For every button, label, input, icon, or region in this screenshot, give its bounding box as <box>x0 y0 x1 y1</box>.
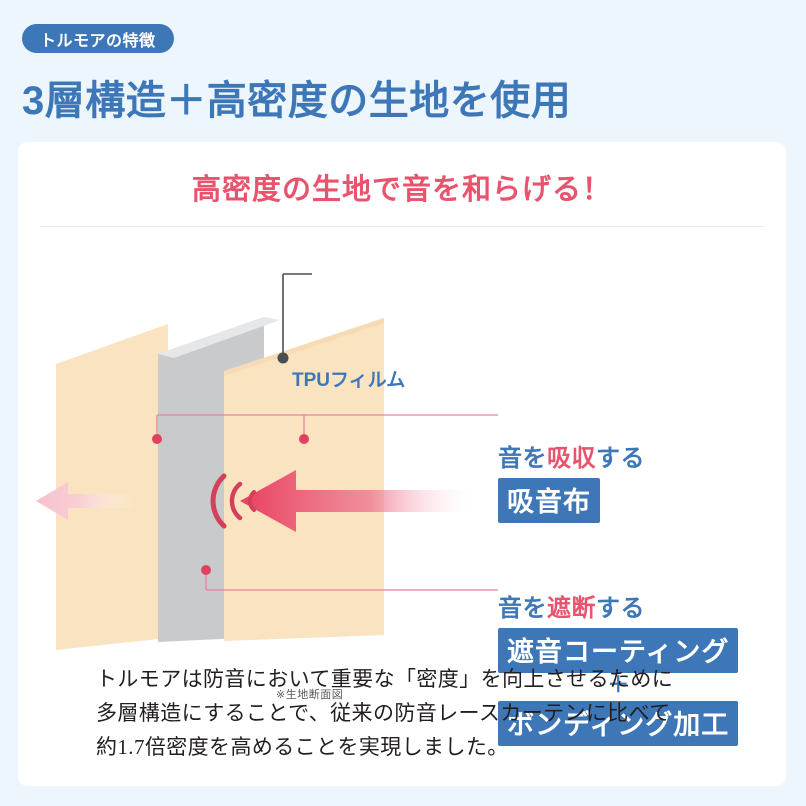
body-copy-line-2: 多層構造にすることで、従来の防音レースカーテンに比べて <box>96 696 708 730</box>
body-copy-line-3: 約1.7倍密度を高めることを実現しました。 <box>96 730 708 764</box>
body-copy: トルモアは防音において重要な「密度」を向上させるために 多層構造にすることで、従… <box>18 662 786 764</box>
callout-absorb-heading-highlight: 吸収 <box>547 445 596 472</box>
tpu-leader-dot <box>278 353 289 364</box>
block-leader-dot <box>201 565 211 575</box>
absorb-leader-dot-right <box>299 434 309 444</box>
callout-absorb-heading-prefix: 音を <box>498 445 547 472</box>
feature-card: 高密度の生地で音を和らげる！ <box>18 142 786 786</box>
chip-absorbing-fabric: 吸音布 <box>498 478 600 523</box>
callout-block-heading: 音を遮断する <box>498 588 738 623</box>
callout-block-heading-prefix: 音を <box>498 595 547 622</box>
divider <box>40 226 764 227</box>
back-fabric-layer <box>56 324 168 650</box>
callout-block-heading-highlight: 遮断 <box>547 595 596 622</box>
callout-absorb-heading-suffix: する <box>596 445 645 472</box>
feature-badge: トルモアの特徴 <box>22 24 174 53</box>
fabric-cross-section-diagram: TPUフィルム ※生地断面図 音を吸収する 吸音布 音を遮断する 遮音コーティン… <box>18 238 786 658</box>
card-subtitle: 高密度の生地で音を和らげる！ <box>18 166 786 208</box>
body-copy-line-1: トルモアは防音において重要な「密度」を向上させるために <box>96 662 708 696</box>
callout-absorb: 音を吸収する 吸音布 <box>498 438 645 523</box>
tpu-film-label: TPUフィルム <box>292 365 405 392</box>
absorb-leader-dot-left <box>152 434 162 444</box>
callout-absorb-heading: 音を吸収する <box>498 438 645 473</box>
page-title: 3層構造＋高密度の生地を使用 <box>22 68 571 126</box>
callout-block-heading-suffix: する <box>596 595 645 622</box>
feature-badge-label: トルモアの特徴 <box>40 27 156 51</box>
